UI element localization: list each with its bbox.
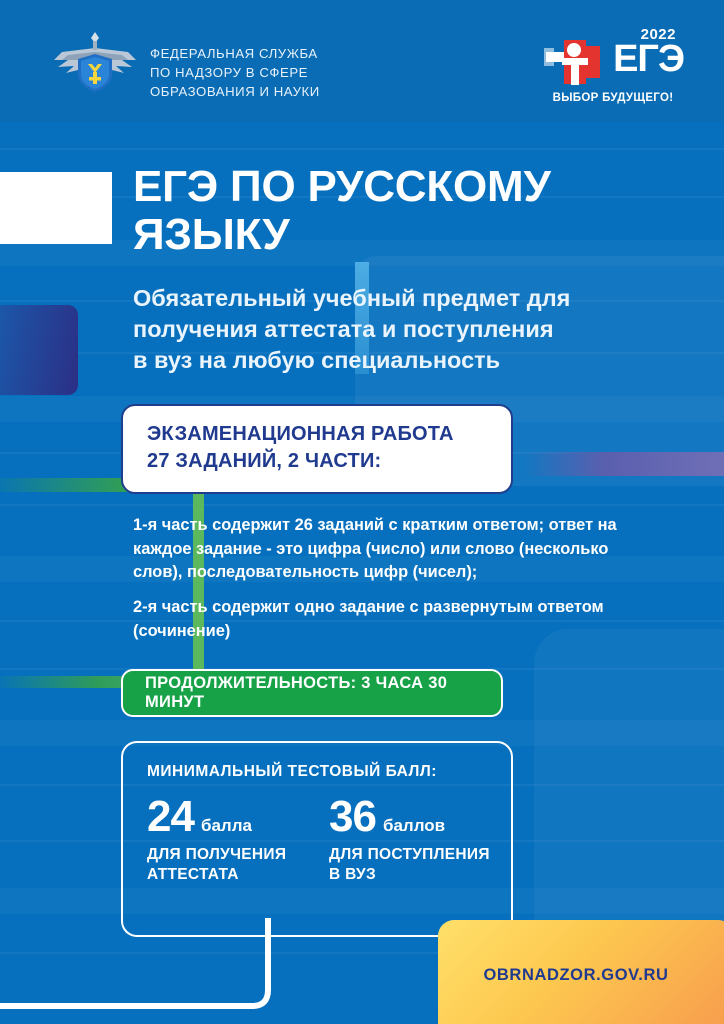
exam-work-line-1: ЭКЗАМЕНАЦИОННАЯ РАБОТА — [147, 421, 487, 448]
org-line-2: ПО НАДЗОРУ В СФЕРЕ — [150, 63, 320, 82]
part-two-description: 2-я часть содержит одно задание с развер… — [133, 596, 633, 643]
org-line-1: ФЕДЕРАЛЬНАЯ СЛУЖБА — [150, 44, 320, 63]
poster-root: ФЕДЕРАЛЬНАЯ СЛУЖБА ПО НАДЗОРУ В СФЕРЕ ОБ… — [0, 0, 724, 1024]
score-columns: 24 балла ДЛЯ ПОЛУЧЕНИЯ АТТЕСТАТА 36 балл… — [147, 795, 511, 885]
score-item-certificate: 24 балла ДЛЯ ПОЛУЧЕНИЯ АТТЕСТАТА — [147, 795, 329, 885]
score-description: ДЛЯ ПОСТУПЛЕНИЯ В ВУЗ — [329, 845, 511, 885]
decor-green-band — [0, 676, 140, 688]
page-title-line-2: ЯЗЫКУ — [133, 211, 693, 259]
score-number-row: 24 балла — [147, 795, 329, 839]
page-header: ФЕДЕРАЛЬНАЯ СЛУЖБА ПО НАДЗОРУ В СФЕРЕ ОБ… — [0, 0, 724, 122]
decor-violet-block — [0, 305, 78, 395]
ege-logo: 2022 ЕГЭ ВЫБОР БУДУЩЕГО! — [538, 26, 688, 104]
duration-banner: ПРОДОЛЖИТЕЛЬНОСТЬ: 3 ЧАСА 30 МИНУТ — [121, 669, 503, 717]
minimum-score-heading: МИНИМАЛЬНЫЙ ТЕСТОВЫЙ БАЛЛ: — [147, 763, 511, 781]
score-desc-line-1: ДЛЯ ПОЛУЧЕНИЯ — [147, 845, 329, 865]
score-unit: баллов — [383, 816, 445, 836]
score-desc-line-2: АТТЕСТАТА — [147, 865, 329, 885]
bg-stripe — [0, 504, 724, 506]
score-unit: балла — [201, 816, 252, 836]
score-description: ДЛЯ ПОЛУЧЕНИЯ АТТЕСТАТА — [147, 845, 329, 885]
footer-url-text[interactable]: OBRNADZOR.GOV.RU — [438, 966, 714, 985]
page-subtitle-line-1: Обязательный учебный предмет для — [133, 283, 673, 314]
exam-work-line-2: 27 ЗАДАНИЙ, 2 ЧАСТИ: — [147, 448, 487, 475]
bg-stripe — [0, 148, 724, 150]
page-subtitle-line-2: получения аттестата и поступления — [133, 314, 673, 345]
footer-url-box[interactable]: OBRNADZOR.GOV.RU — [438, 920, 724, 1024]
score-desc-line-1: ДЛЯ ПОСТУПЛЕНИЯ — [329, 845, 511, 865]
duration-label: ПРОДОЛЖИТЕЛЬНОСТЬ: 3 ЧАСА 30 МИНУТ — [145, 674, 501, 712]
page-subtitle-line-3: в вуз на любую специальность — [133, 345, 673, 376]
ege-logo-word: ЕГЭ — [613, 40, 684, 78]
exam-work-box: ЭКЗАМЕНАЦИОННАЯ РАБОТА 27 ЗАДАНИЙ, 2 ЧАС… — [121, 404, 513, 494]
score-item-university: 36 баллов ДЛЯ ПОСТУПЛЕНИЯ В ВУЗ — [329, 795, 511, 885]
page-subtitle: Обязательный учебный предмет для получен… — [133, 283, 673, 376]
rosobrnadzor-emblem-icon — [52, 30, 138, 94]
page-title: ЕГЭ ПО РУССКОМУ ЯЗЫКУ — [133, 163, 693, 259]
decor-bottom-panel — [534, 629, 724, 929]
score-desc-line-2: В ВУЗ — [329, 865, 511, 885]
org-line-3: ОБРАЗОВАНИЯ И НАУКИ — [150, 82, 320, 101]
score-value: 24 — [147, 795, 194, 839]
organization-name: ФЕДЕРАЛЬНАЯ СЛУЖБА ПО НАДЗОРУ В СФЕРЕ ОБ… — [150, 44, 320, 101]
ege-logo-tagline: ВЫБОР БУДУЩЕГО! — [538, 92, 688, 104]
minimum-score-box: МИНИМАЛЬНЫЙ ТЕСТОВЫЙ БАЛЛ: 24 балла ДЛЯ … — [121, 741, 513, 937]
page-title-line-1: ЕГЭ ПО РУССКОМУ — [133, 163, 693, 211]
title-accent-block — [0, 172, 112, 244]
score-number-row: 36 баллов — [329, 795, 511, 839]
part-one-description: 1-я часть содержит 26 заданий с кратким … — [133, 514, 633, 585]
score-value: 36 — [329, 795, 376, 839]
decor-violet-band — [524, 452, 724, 476]
